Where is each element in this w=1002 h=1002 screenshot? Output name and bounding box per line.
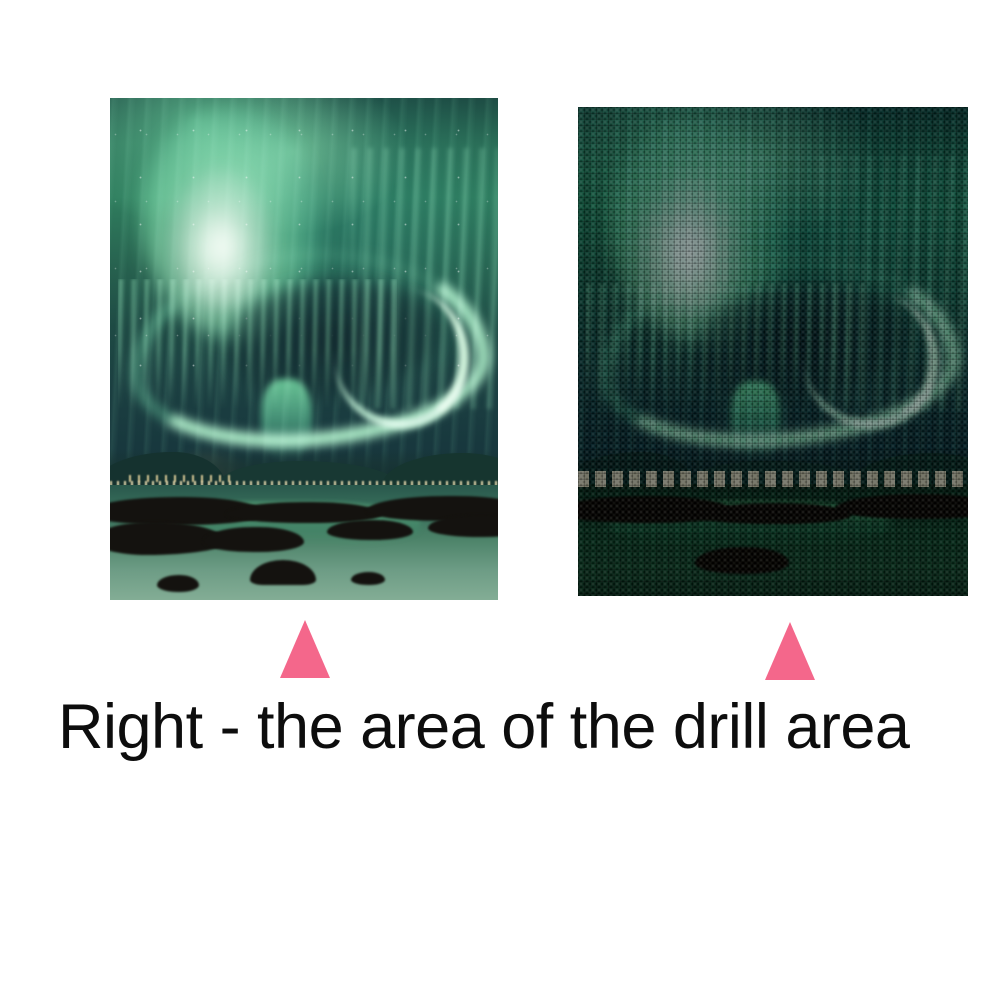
rock-boulder — [695, 547, 789, 574]
aurora-rays-right — [820, 156, 968, 410]
rock-boulder — [157, 575, 200, 592]
pink-arrow-left-icon — [280, 620, 330, 678]
rock-outcrop — [327, 520, 412, 540]
aurora-scene-drill — [578, 107, 968, 596]
original-photo[interactable] — [110, 98, 498, 600]
rock-outcrop — [203, 527, 304, 552]
rock-outcrop — [695, 503, 851, 524]
page-canvas: Right - the area of the drill area — [0, 0, 1002, 1002]
pink-arrow-right-icon — [765, 622, 815, 680]
caption-text: Right - the area of the drill area — [58, 690, 1002, 764]
rock-boulder — [351, 572, 386, 585]
city-lights-drill-row — [578, 471, 968, 487]
aurora-scene-original — [110, 98, 498, 600]
aurora-rays-right — [351, 148, 498, 409]
drill-photo[interactable] — [578, 107, 968, 596]
rock-outcrop — [835, 494, 968, 518]
